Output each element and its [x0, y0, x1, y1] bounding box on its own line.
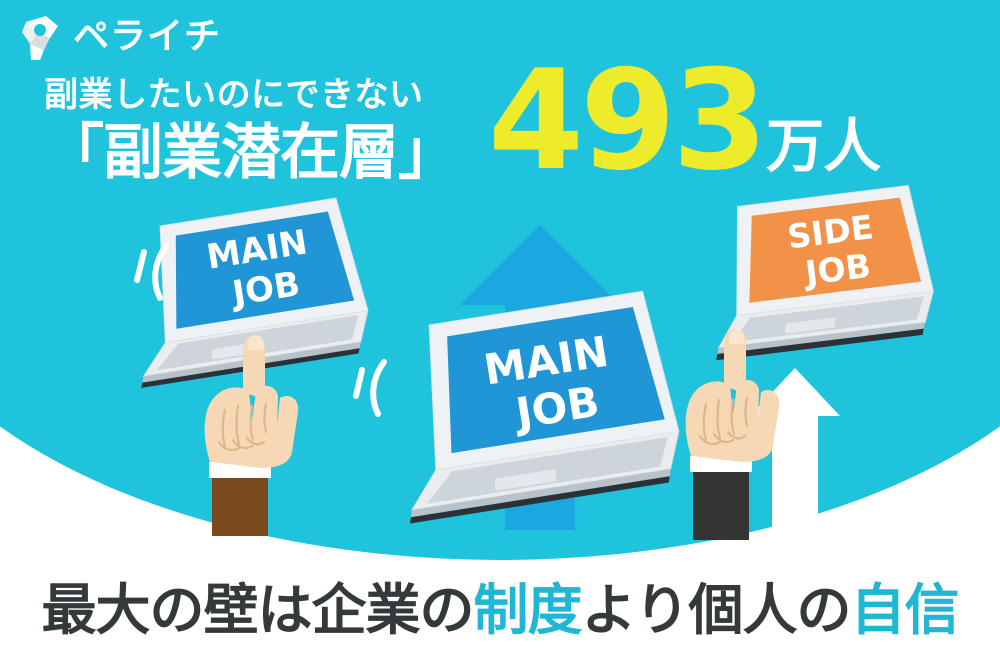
stat-figure: 493 万人 — [488, 62, 880, 181]
infographic-canvas: MAIN JOB — [0, 0, 1000, 666]
headline-subtitle: 副業したいのにできない — [44, 78, 514, 114]
headline-block: 副業したいのにできない 「副業潜在層」 — [44, 78, 514, 186]
peraichi-ribbon-p-logo-icon — [20, 14, 64, 60]
footer-part2: より個人の — [582, 578, 851, 642]
laptop-right-screen-line2: JOB — [801, 246, 873, 293]
stat-number: 493 — [488, 62, 764, 181]
right-hand-pointing — [686, 329, 780, 540]
footer-highlight2: 自信 — [850, 578, 958, 642]
motion-mark-center-icon — [356, 362, 384, 414]
motion-mark-left-icon — [137, 246, 166, 298]
stat-unit: 万人 — [766, 117, 880, 175]
footer-part1: 最大の壁は企業の — [42, 578, 474, 642]
brand-logo-text: ペライチ — [73, 19, 221, 55]
footer-tagline: 最大の壁は企業の制度より個人の自信 — [0, 565, 1000, 645]
footer-highlight1: 制度 — [474, 578, 582, 642]
main-job-laptop-center: MAIN JOB — [380, 289, 687, 523]
brand-logo[interactable]: ペライチ — [20, 14, 221, 60]
headline-main: 「副業潜在層」 — [44, 120, 514, 186]
